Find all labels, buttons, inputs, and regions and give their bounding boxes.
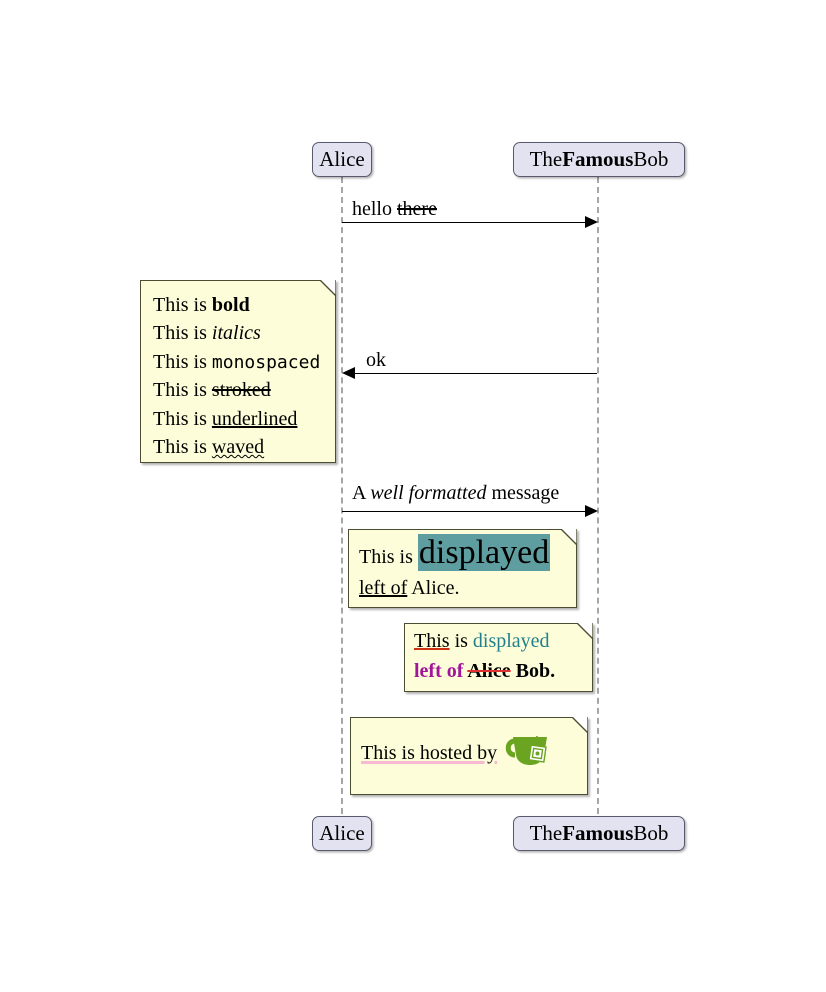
note-colored-over-participants: This is displayed left of Alice Bob. [404, 623, 593, 692]
participant-bob-bold: Famous [562, 149, 633, 170]
note-displayed-highlight: displayed [418, 534, 550, 571]
note-colored-bob: Bob. [511, 660, 555, 682]
note-hosted-by: This is hosted by [350, 717, 588, 795]
note-displayed-line2: left of Alice. [359, 576, 566, 601]
message-label-ok: ok [366, 350, 386, 370]
sequence-diagram-canvas: Alice The Famous Bob hello there This is… [0, 0, 826, 992]
message-ok-text: ok [366, 349, 386, 371]
participant-alice-label: Alice [319, 823, 364, 844]
note-line-monospaced: This is monospaced [153, 348, 323, 376]
note-colored-line2: left of Alice Bob. [414, 659, 583, 684]
note-line-underlined: This is underlined [153, 405, 323, 433]
note-line-stroked: This is stroked [153, 376, 323, 404]
participant-alice-bottom[interactable]: Alice [312, 816, 372, 851]
message-wf-post: message [486, 482, 559, 504]
tea-cup-icon [503, 734, 549, 776]
message-line-hello-there [342, 222, 592, 223]
note-line-stroked-value: stroked [212, 379, 271, 401]
participant-bob-suffix: Bob [633, 823, 668, 844]
message-line-well-formatted [342, 511, 592, 512]
note-text-styles: This is bold This is italics This is mon… [140, 280, 336, 463]
note-displayed-line1: This is displayed [359, 536, 566, 570]
arrowhead-well-formatted [585, 505, 598, 517]
note-fold-icon [572, 717, 588, 733]
note-text-styles-body: This is bold This is italics This is mon… [141, 281, 335, 471]
note-hosted-body: This is hosted by [351, 718, 587, 792]
note-line-italics: This is italics [153, 319, 323, 347]
note-displayed-body: This is displayed left of Alice. [349, 530, 576, 607]
note-hosted-text: This is hosted by [361, 742, 497, 764]
message-hello-plain: hello [352, 198, 397, 220]
note-line-waved-prefix: This is [153, 436, 212, 458]
note-line-stroked-prefix: This is [153, 379, 212, 401]
note-fold-icon [320, 280, 336, 296]
participant-bob-suffix: Bob [633, 149, 668, 170]
lifeline-alice [341, 177, 343, 814]
participant-alice-label: Alice [319, 149, 364, 170]
note-colored-displayed: displayed [473, 630, 550, 652]
note-line-bold-value: bold [212, 294, 250, 316]
note-colored-leftof: left of [414, 660, 467, 682]
note-line-monospaced-value: monospaced [212, 352, 320, 373]
note-displayed-left-of-alice: This is displayed left of Alice. [348, 529, 577, 608]
note-fold-icon [561, 529, 577, 545]
message-wf-pre: A [352, 482, 370, 504]
note-displayed-pre: This is [359, 546, 418, 568]
participant-bob-prefix: The [530, 823, 563, 844]
note-hosted-line: This is hosted by [361, 734, 577, 776]
lifeline-bob [597, 177, 599, 814]
note-line-underlined-value: underlined [212, 408, 298, 430]
note-displayed-underlined: left of [359, 577, 407, 599]
note-displayed-post: Alice. [407, 577, 459, 599]
arrowhead-ok [342, 367, 355, 379]
note-line-italics-prefix: This is [153, 322, 212, 344]
message-wf-italic: well formatted [370, 482, 486, 504]
note-line-monospaced-prefix: This is [153, 351, 212, 373]
note-colored-mid: is [450, 630, 473, 652]
note-line-italics-value: italics [212, 322, 261, 344]
message-line-ok [348, 373, 597, 374]
participant-bob-prefix: The [530, 149, 563, 170]
note-colored-line1: This is displayed [414, 629, 583, 654]
note-fold-icon [577, 623, 593, 639]
message-label-well-formatted: A well formatted message [352, 483, 559, 503]
note-line-underlined-prefix: This is [153, 408, 212, 430]
participant-alice-top[interactable]: Alice [312, 142, 372, 177]
note-line-waved-value: waved [212, 436, 264, 458]
message-there-struck: there [397, 198, 437, 220]
note-colored-alice-struck: Alice [467, 660, 510, 682]
arrowhead-hello-there [585, 216, 598, 228]
participant-bob-top[interactable]: The Famous Bob [513, 142, 685, 177]
note-line-waved: This is waved [153, 433, 323, 461]
note-line-bold-prefix: This is [153, 294, 212, 316]
message-label-hello-there: hello there [352, 199, 437, 219]
note-line-bold: This is bold [153, 291, 323, 319]
participant-bob-bottom[interactable]: The Famous Bob [513, 816, 685, 851]
participant-bob-bold: Famous [562, 823, 633, 844]
note-colored-body: This is displayed left of Alice Bob. [405, 624, 592, 689]
note-colored-this: This [414, 630, 450, 652]
